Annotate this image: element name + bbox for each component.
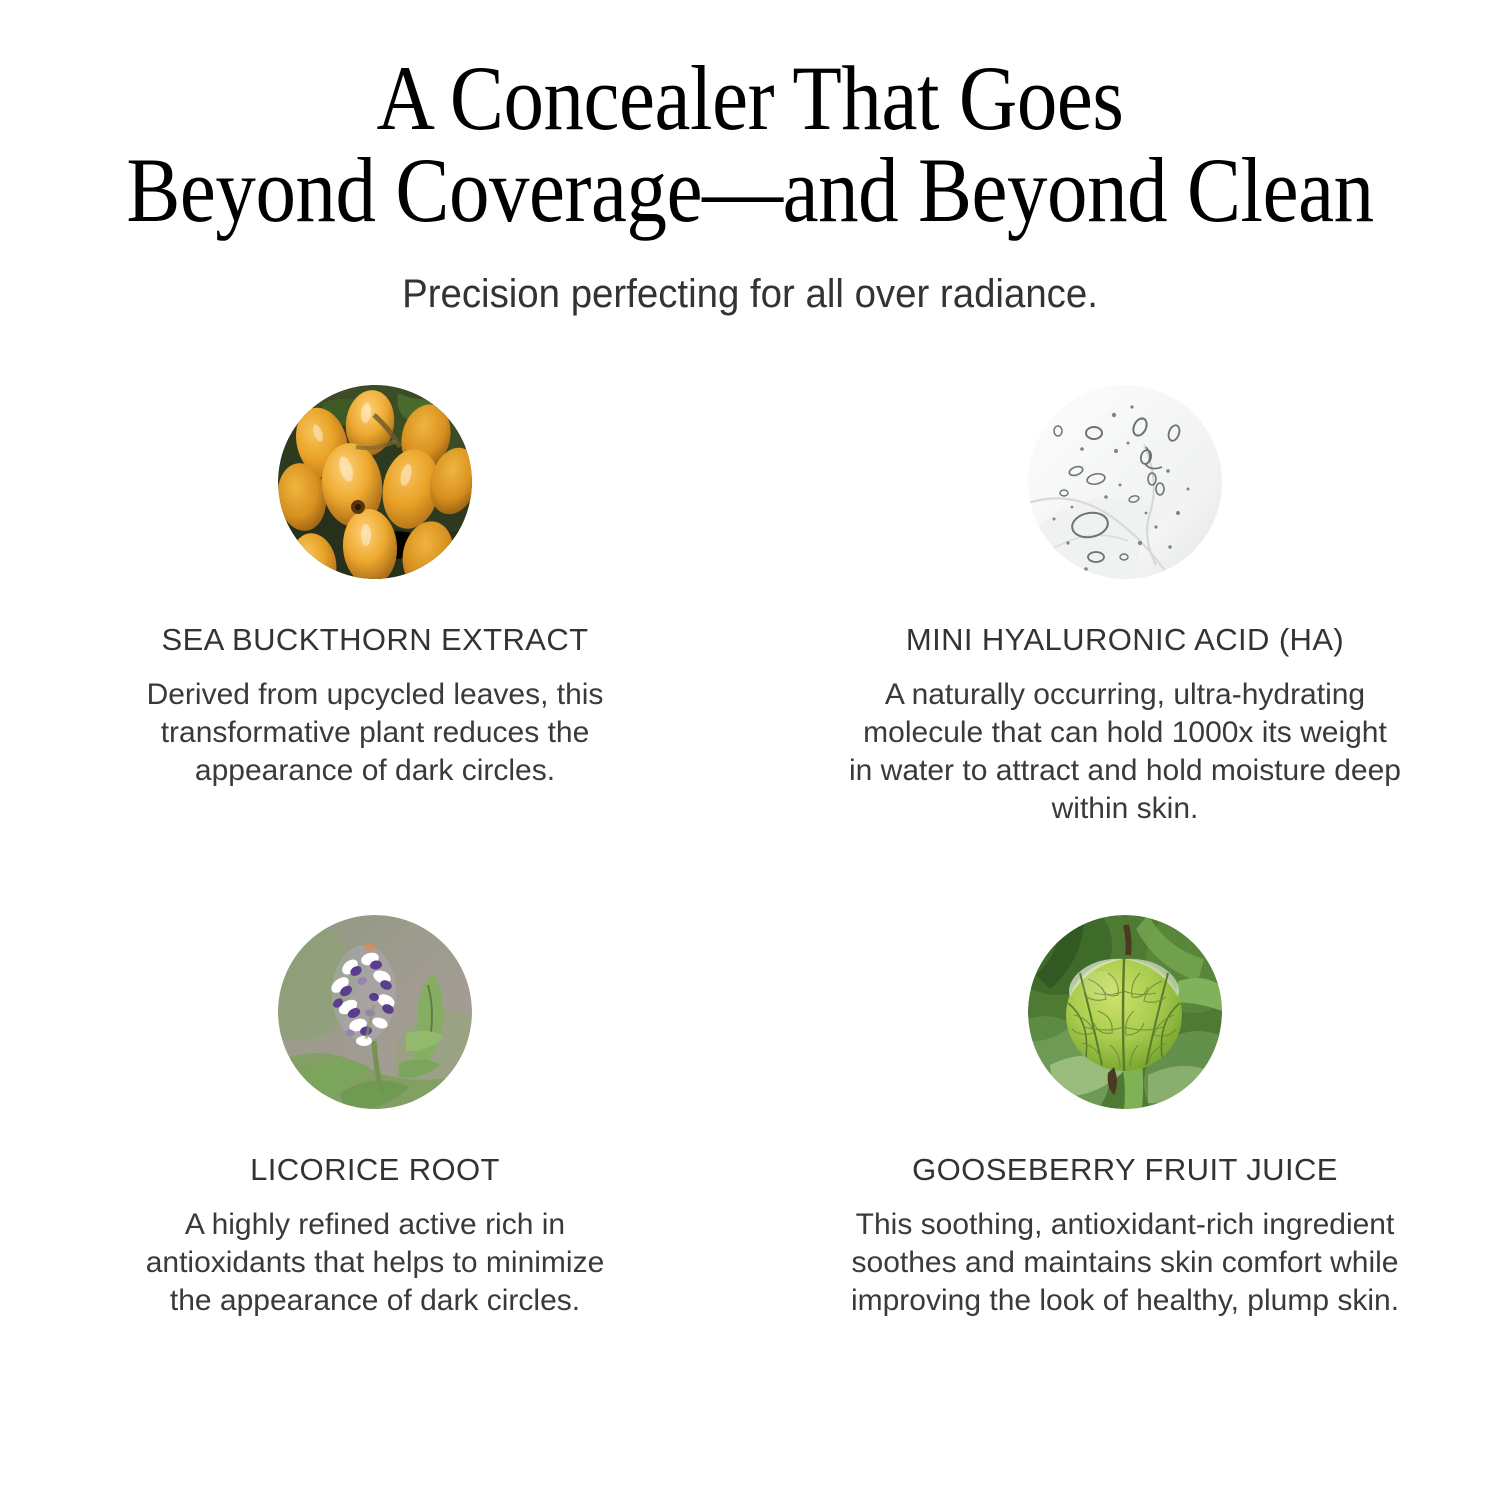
page-subtitle: Precision perfecting for all over radian… [30, 236, 1470, 318]
ingredient-card-hyaluronic-acid: MINI HYALURONIC ACID (HA) A naturally oc… [750, 385, 1500, 915]
ingredient-description: A naturally occurring, ultra-hydrating m… [848, 657, 1403, 828]
ingredient-benefits-page: A Concealer That Goes Beyond Coverage—an… [0, 0, 1500, 1500]
ingredient-title: MINI HYALURONIC ACID (HA) [906, 579, 1344, 657]
headline-line-1: A Concealer That Goes [90, 52, 1410, 144]
ingredient-description: A highly refined active rich in antioxid… [125, 1187, 625, 1320]
hyaluronic-acid-gel-texture-photo [1028, 385, 1222, 579]
ingredient-title: GOOSEBERRY FRUIT JUICE [912, 1109, 1338, 1187]
ingredient-title: SEA BUCKTHORN EXTRACT [162, 579, 589, 657]
ingredient-grid: SEA BUCKTHORN EXTRACT Derived from upcyc… [0, 385, 1500, 1445]
headline-line-2: Beyond Coverage—and Beyond Clean [90, 144, 1410, 236]
licorice-root-flower-photo [278, 915, 472, 1109]
gooseberry-fruit-husk-photo [1028, 915, 1222, 1109]
ingredient-title: LICORICE ROOT [250, 1109, 500, 1187]
ingredient-card-gooseberry: GOOSEBERRY FRUIT JUICE This soothing, an… [750, 915, 1500, 1445]
page-header: A Concealer That Goes Beyond Coverage—an… [0, 0, 1500, 318]
page-title: A Concealer That Goes Beyond Coverage—an… [90, 52, 1410, 236]
ingredient-card-licorice-root: LICORICE ROOT A highly refined active ri… [0, 915, 750, 1445]
ingredient-description: Derived from upcycled leaves, this trans… [125, 657, 625, 790]
ingredient-card-sea-buckthorn: SEA BUCKTHORN EXTRACT Derived from upcyc… [0, 385, 750, 915]
sea-buckthorn-berries-photo [278, 385, 472, 579]
ingredient-description: This soothing, antioxidant-rich ingredie… [848, 1187, 1403, 1320]
